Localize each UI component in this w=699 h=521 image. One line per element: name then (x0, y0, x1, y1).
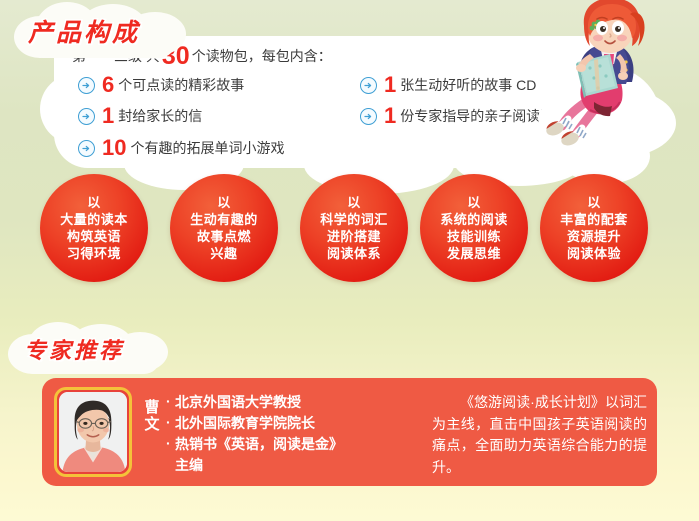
circle-right-arrow-icon (78, 77, 95, 94)
list-item: 热销书《英语，阅读是金》 (166, 434, 381, 455)
list-item-number: 1 (384, 74, 396, 96)
lead-suffix: 个读物包，每包内含： (192, 48, 332, 64)
feature-line: 资源提升 (567, 228, 621, 245)
list-item: 1 张生动好听的故事 CD (360, 74, 536, 96)
circle-right-arrow-icon (78, 140, 95, 157)
feature-line: 故事点燃 (197, 228, 251, 245)
circle-right-arrow-icon (360, 108, 377, 125)
feature-line: 生动有趣的 (190, 211, 258, 228)
feature-line: 以 (587, 194, 601, 211)
list-item: 10 个有趣的拓展单词小游戏 (78, 137, 284, 159)
expert-name: 曹文 (142, 400, 162, 434)
feature-line: 以 (347, 194, 361, 211)
feature-circle: 以 系统的阅读 技能训练 发展思维 (420, 174, 528, 282)
list-item-label: 个有趣的拓展单词小游戏 (130, 141, 284, 155)
girl-reading-book-illustration (534, 0, 684, 158)
list-item-label: 封给家长的信 (118, 109, 202, 123)
feature-line: 构筑英语 (67, 228, 121, 245)
list-item-number: 10 (102, 137, 126, 159)
list-item-number: 1 (102, 105, 114, 127)
feature-circle: 以 生动有趣的 故事点燃 兴趣 (170, 174, 278, 282)
expert-recommendation-panel: 曹文 北京外国语大学教授 北外国际教育学院院长 热销书《英语，阅读是金》 主编 … (42, 378, 657, 486)
poster-canvas: 产品构成 第一～三级 共30个读物包，每包内含： 6 个可点读的精彩故事 1 封… (0, 0, 699, 521)
list-item-label: 个可点读的精彩故事 (118, 78, 244, 92)
feature-line: 科学的词汇 (320, 211, 388, 228)
list-item: 主编 (166, 455, 381, 476)
circle-right-arrow-icon (360, 77, 377, 94)
feature-line: 阅读体系 (327, 245, 381, 262)
feature-line: 丰富的配套 (560, 211, 628, 228)
avatar (54, 387, 132, 477)
feature-line: 以 (467, 194, 481, 211)
feature-line: 系统的阅读 (440, 211, 508, 228)
expert-credentials: 北京外国语大学教授 北外国际教育学院院长 热销书《英语，阅读是金》 主编 (166, 392, 381, 476)
feature-circle: 以 科学的词汇 进阶搭建 阅读体系 (300, 174, 408, 282)
list-item: 北京外国语大学教授 (166, 392, 381, 413)
list-item: 6 个可点读的精彩故事 (78, 74, 244, 96)
feature-line: 发展思维 (447, 245, 501, 262)
list-item: 1 封给家长的信 (78, 105, 202, 127)
feature-line: 习得环境 (67, 245, 121, 262)
feature-circle: 以 丰富的配套 资源提升 阅读体验 (540, 174, 648, 282)
list-item-number: 1 (384, 105, 396, 127)
list-item-label: 张生动好听的故事 CD (400, 78, 536, 92)
feature-line: 进阶搭建 (327, 228, 381, 245)
feature-line: 大量的读本 (60, 211, 128, 228)
credential-list: 北京外国语大学教授 北外国际教育学院院长 热销书《英语，阅读是金》 主编 (166, 392, 381, 476)
list-item-number: 6 (102, 74, 114, 96)
circle-right-arrow-icon (78, 108, 95, 125)
expert-section-title: 专家推荐 (24, 333, 124, 365)
expert-photo (59, 392, 127, 472)
feature-line: 兴趣 (210, 245, 237, 262)
feature-circle: 以 大量的读本 构筑英语 习得环境 (40, 174, 148, 282)
product-section-title: 产品构成 (28, 13, 140, 49)
list-item: 北外国际教育学院院长 (166, 413, 381, 434)
expert-blurb: 《悠游阅读·成长计划》以词汇为主线，直击中国孩子英语阅读的痛点，全面助力英语综合… (432, 392, 647, 479)
feature-line: 技能训练 (447, 228, 501, 245)
feature-line: 以 (87, 194, 101, 211)
feature-line: 以 (217, 194, 231, 211)
feature-circle-list: 以 大量的读本 构筑英语 习得环境 以 生动有趣的 故事点燃 兴趣 以 科学的词… (0, 168, 699, 288)
feature-line: 阅读体验 (567, 245, 621, 262)
